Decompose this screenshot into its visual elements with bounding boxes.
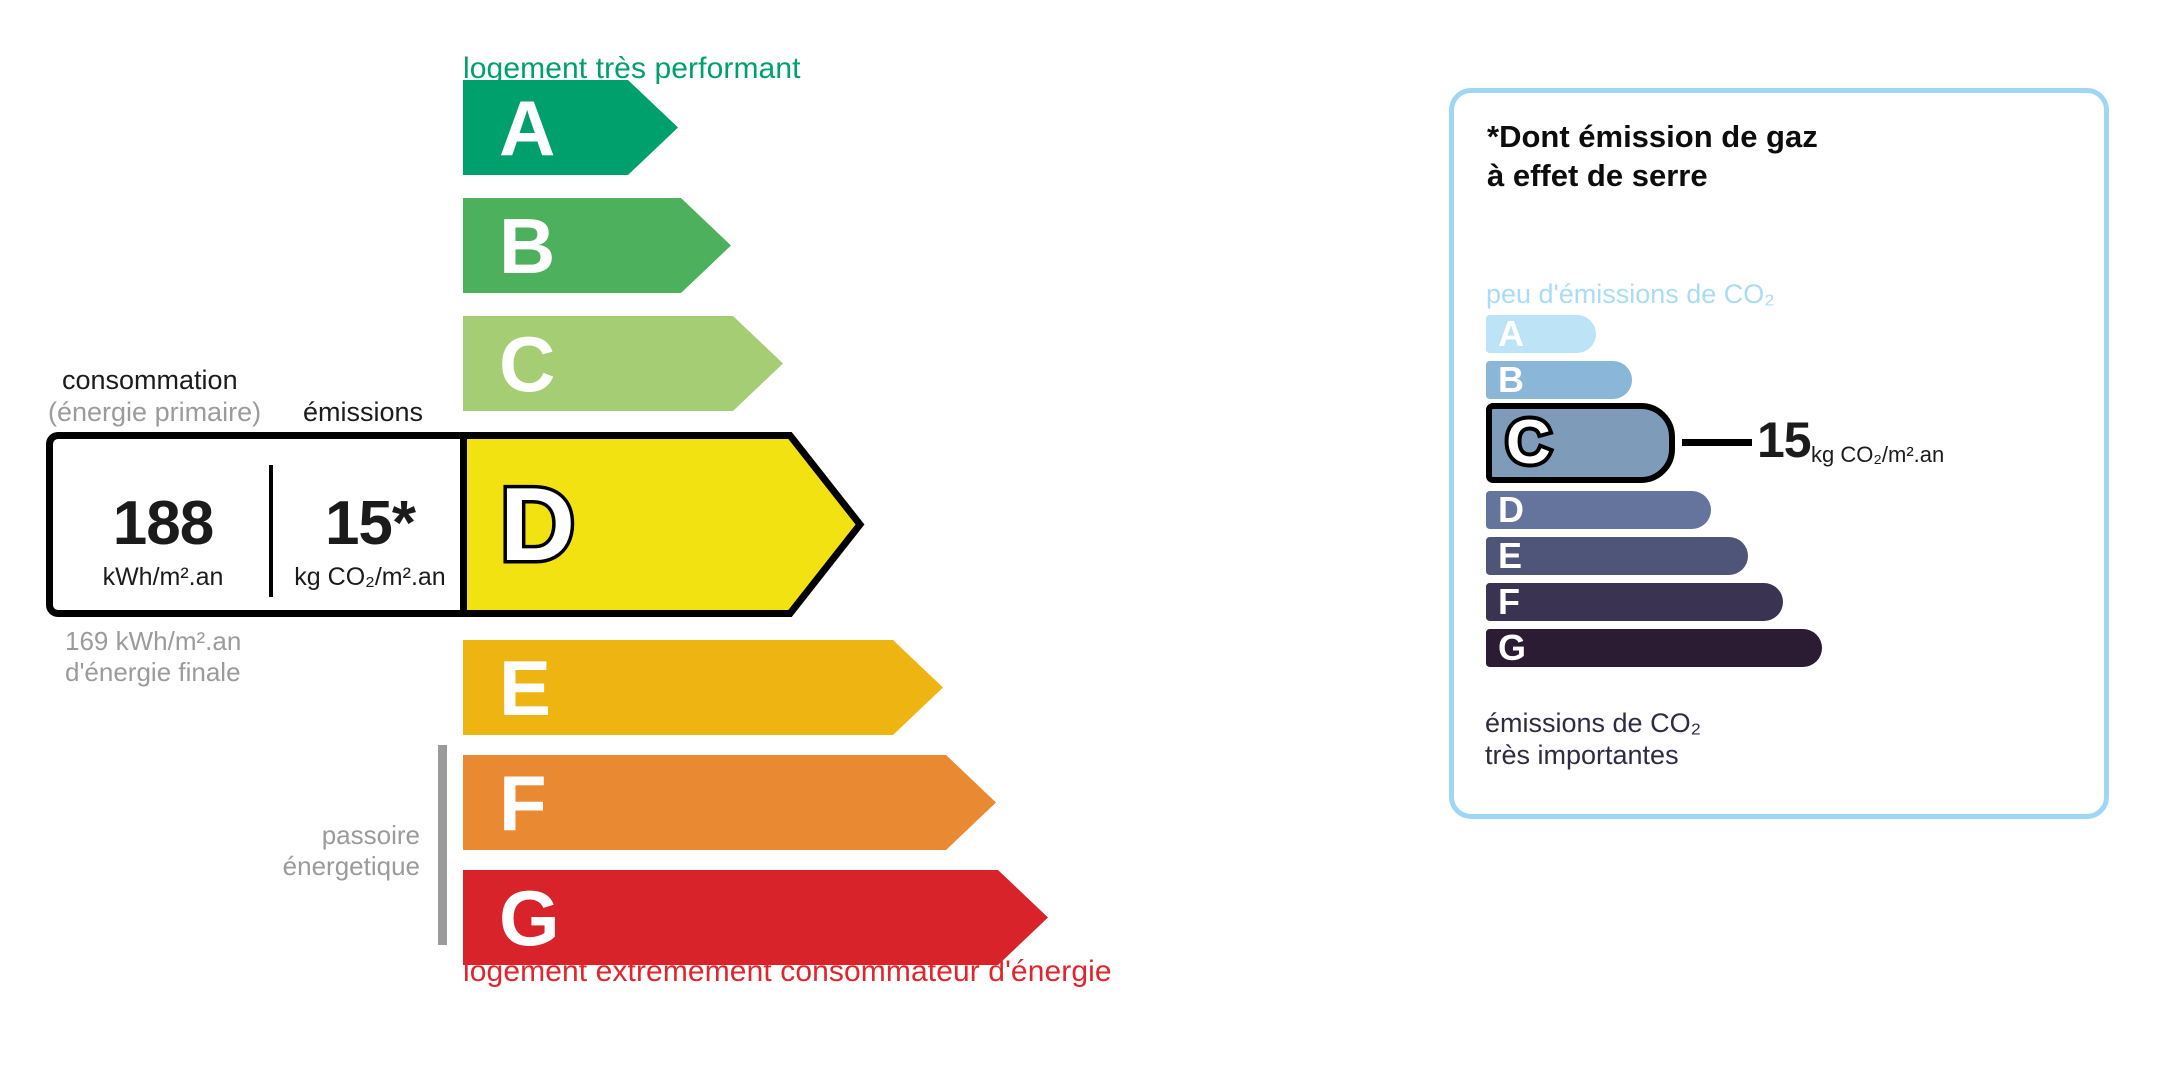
- co2-bar-c-letter: C: [1506, 412, 1551, 474]
- energy-band-a: A: [463, 80, 693, 175]
- co2-bottom-caption-line2: très importantes: [1485, 739, 1701, 771]
- co2-bar-b: B: [1486, 361, 1632, 399]
- co2-bottom-caption-line1: émissions de CO₂: [1485, 707, 1701, 739]
- co2-bar-e: E: [1486, 537, 1748, 575]
- passoire-label: passoire énergetique: [250, 820, 420, 881]
- label-emissions: émissions: [303, 397, 423, 428]
- co2-bar-b-letter: B: [1498, 362, 1524, 398]
- co2-bar-d: D: [1486, 491, 1711, 529]
- selected-energy-row: 188 kWh/m².an 15* kg CO₂/m².an D: [46, 432, 1006, 617]
- co2-panel-title-line2: à effet de serre: [1487, 156, 1818, 195]
- emission-unit: kg CO₂/m².an: [275, 565, 465, 590]
- co2-bar-d-letter: D: [1498, 492, 1524, 528]
- co2-value: 15: [1757, 415, 1811, 465]
- primary-energy-value-cell: 188 kWh/m².an: [63, 493, 263, 590]
- co2-bar-a-letter: A: [1498, 316, 1524, 352]
- co2-leader-line: [1682, 439, 1752, 446]
- energy-band-g: G: [463, 870, 1073, 965]
- final-energy-value: 169 kWh/m².an: [65, 626, 241, 657]
- co2-panel-title-line1: *Dont émission de gaz: [1487, 117, 1818, 156]
- energy-band-f: F: [463, 755, 1018, 850]
- value-box-divider: [269, 465, 273, 597]
- energy-band-b-letter: B: [499, 207, 555, 285]
- co2-panel: *Dont émission de gaz à effet de serre p…: [1449, 88, 2109, 819]
- energy-band-b: B: [463, 198, 748, 293]
- energy-band-e: E: [463, 640, 963, 735]
- co2-bar-g-letter: G: [1498, 630, 1526, 666]
- final-energy-note: 169 kWh/m².an d'énergie finale: [65, 626, 241, 687]
- primary-energy-unit: kWh/m².an: [63, 565, 263, 590]
- energy-ladder: logement très performant A B C: [0, 0, 1300, 1079]
- co2-value-unit: kg CO₂/m².an: [1811, 444, 1944, 466]
- label-consommation: consommation: [62, 365, 238, 396]
- energy-band-g-letter: G: [499, 879, 560, 957]
- passoire-label-line1: passoire: [250, 820, 420, 851]
- value-box: 188 kWh/m².an 15* kg CO₂/m².an: [46, 432, 466, 617]
- energy-band-a-letter: A: [499, 89, 555, 167]
- co2-bottom-caption: émissions de CO₂ très importantes: [1485, 707, 1701, 772]
- label-energie-primaire: (énergie primaire): [48, 397, 261, 428]
- energy-band-d: D: [460, 432, 940, 617]
- dpe-diagram: logement très performant A B C: [0, 0, 2169, 1079]
- final-energy-text: d'énergie finale: [65, 657, 241, 688]
- passoire-indicator-bar: [438, 745, 447, 945]
- emission-value-cell: 15* kg CO₂/m².an: [275, 493, 465, 590]
- energy-band-c: C: [463, 316, 803, 411]
- ladder-bottom-caption: logement extrêmement consommateur d'éner…: [463, 955, 1112, 989]
- energy-band-e-letter: E: [499, 649, 551, 727]
- primary-energy-value: 188: [63, 493, 263, 555]
- energy-band-c-letter: C: [499, 325, 555, 403]
- co2-bar-c: C: [1486, 403, 1675, 483]
- co2-bar-a: A: [1486, 315, 1596, 353]
- co2-top-caption: peu d'émissions de CO₂: [1486, 279, 1775, 310]
- co2-panel-title: *Dont émission de gaz à effet de serre: [1487, 117, 1818, 195]
- passoire-label-line2: énergetique: [250, 851, 420, 882]
- co2-bar-f-letter: F: [1498, 584, 1520, 620]
- energy-band-f-letter: F: [499, 764, 547, 842]
- emission-value: 15*: [275, 493, 465, 555]
- co2-bar-g: G: [1486, 629, 1822, 667]
- co2-bar-e-letter: E: [1498, 538, 1522, 574]
- energy-band-d-letter: D: [500, 473, 575, 577]
- co2-bar-f: F: [1486, 583, 1783, 621]
